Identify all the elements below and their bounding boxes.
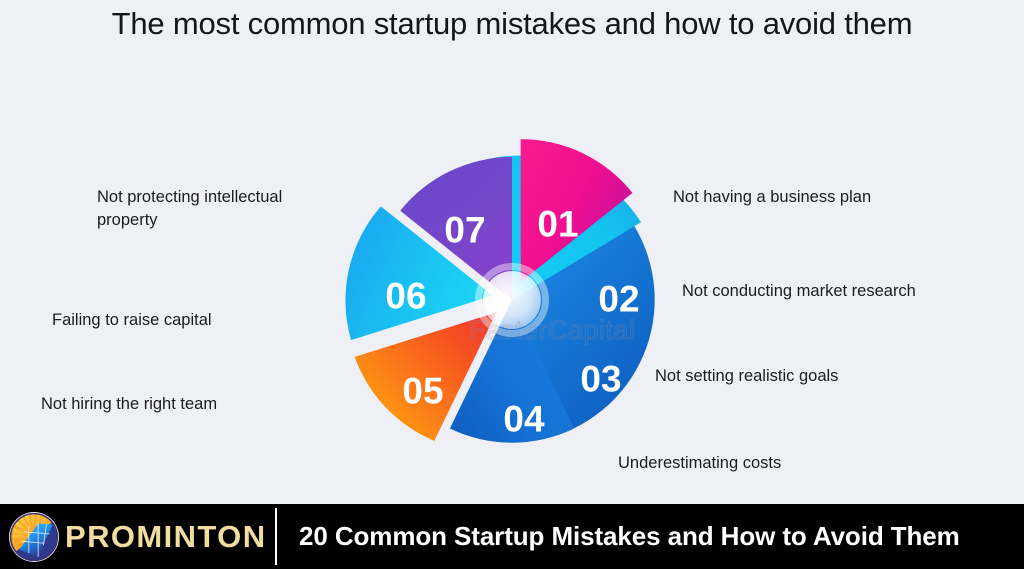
prominton-logo-icon [8,511,60,563]
infographic-slide: The most common startup mistakes and how… [0,0,1024,569]
callout-right-4: Underestimating costs [618,452,958,475]
callout-left-2: Failing to raise capital [52,309,342,332]
pie-center-hub [483,271,541,329]
footer-bar: PROMINTON 20 Common Startup Mistakes and… [0,504,1024,569]
callout-left-3: Not hiring the right team [41,393,341,416]
brand-name: PROMINTON [65,519,266,555]
footer-caption: 20 Common Startup Mistakes and How to Av… [277,504,1024,569]
brand-block[interactable]: PROMINTON [0,504,277,569]
callout-right-3: Not setting realistic goals [655,365,995,388]
page-title: The most common startup mistakes and how… [0,6,1024,42]
pie-slice-label-04: 04 [503,399,545,440]
pie-slice-label-02: 02 [598,279,639,320]
pie-slice-label-05: 05 [402,371,443,412]
pie-slice-label-03: 03 [580,359,621,400]
pie-slice-label-06: 06 [385,276,426,317]
callout-right-1: Not having a business plan [673,186,1013,209]
pie-slice-label-01: 01 [537,204,578,245]
footer-divider [275,508,277,565]
pie-chart-svg: 01 02 03 04 05 06 07 [347,110,677,490]
callout-right-2: Not conducting market research [682,280,1022,303]
pie-chart: 01 02 03 04 05 06 07 [347,110,677,490]
pie-slice-label-07: 07 [444,210,485,251]
callout-left-1: Not protecting intellectual property [97,186,347,233]
